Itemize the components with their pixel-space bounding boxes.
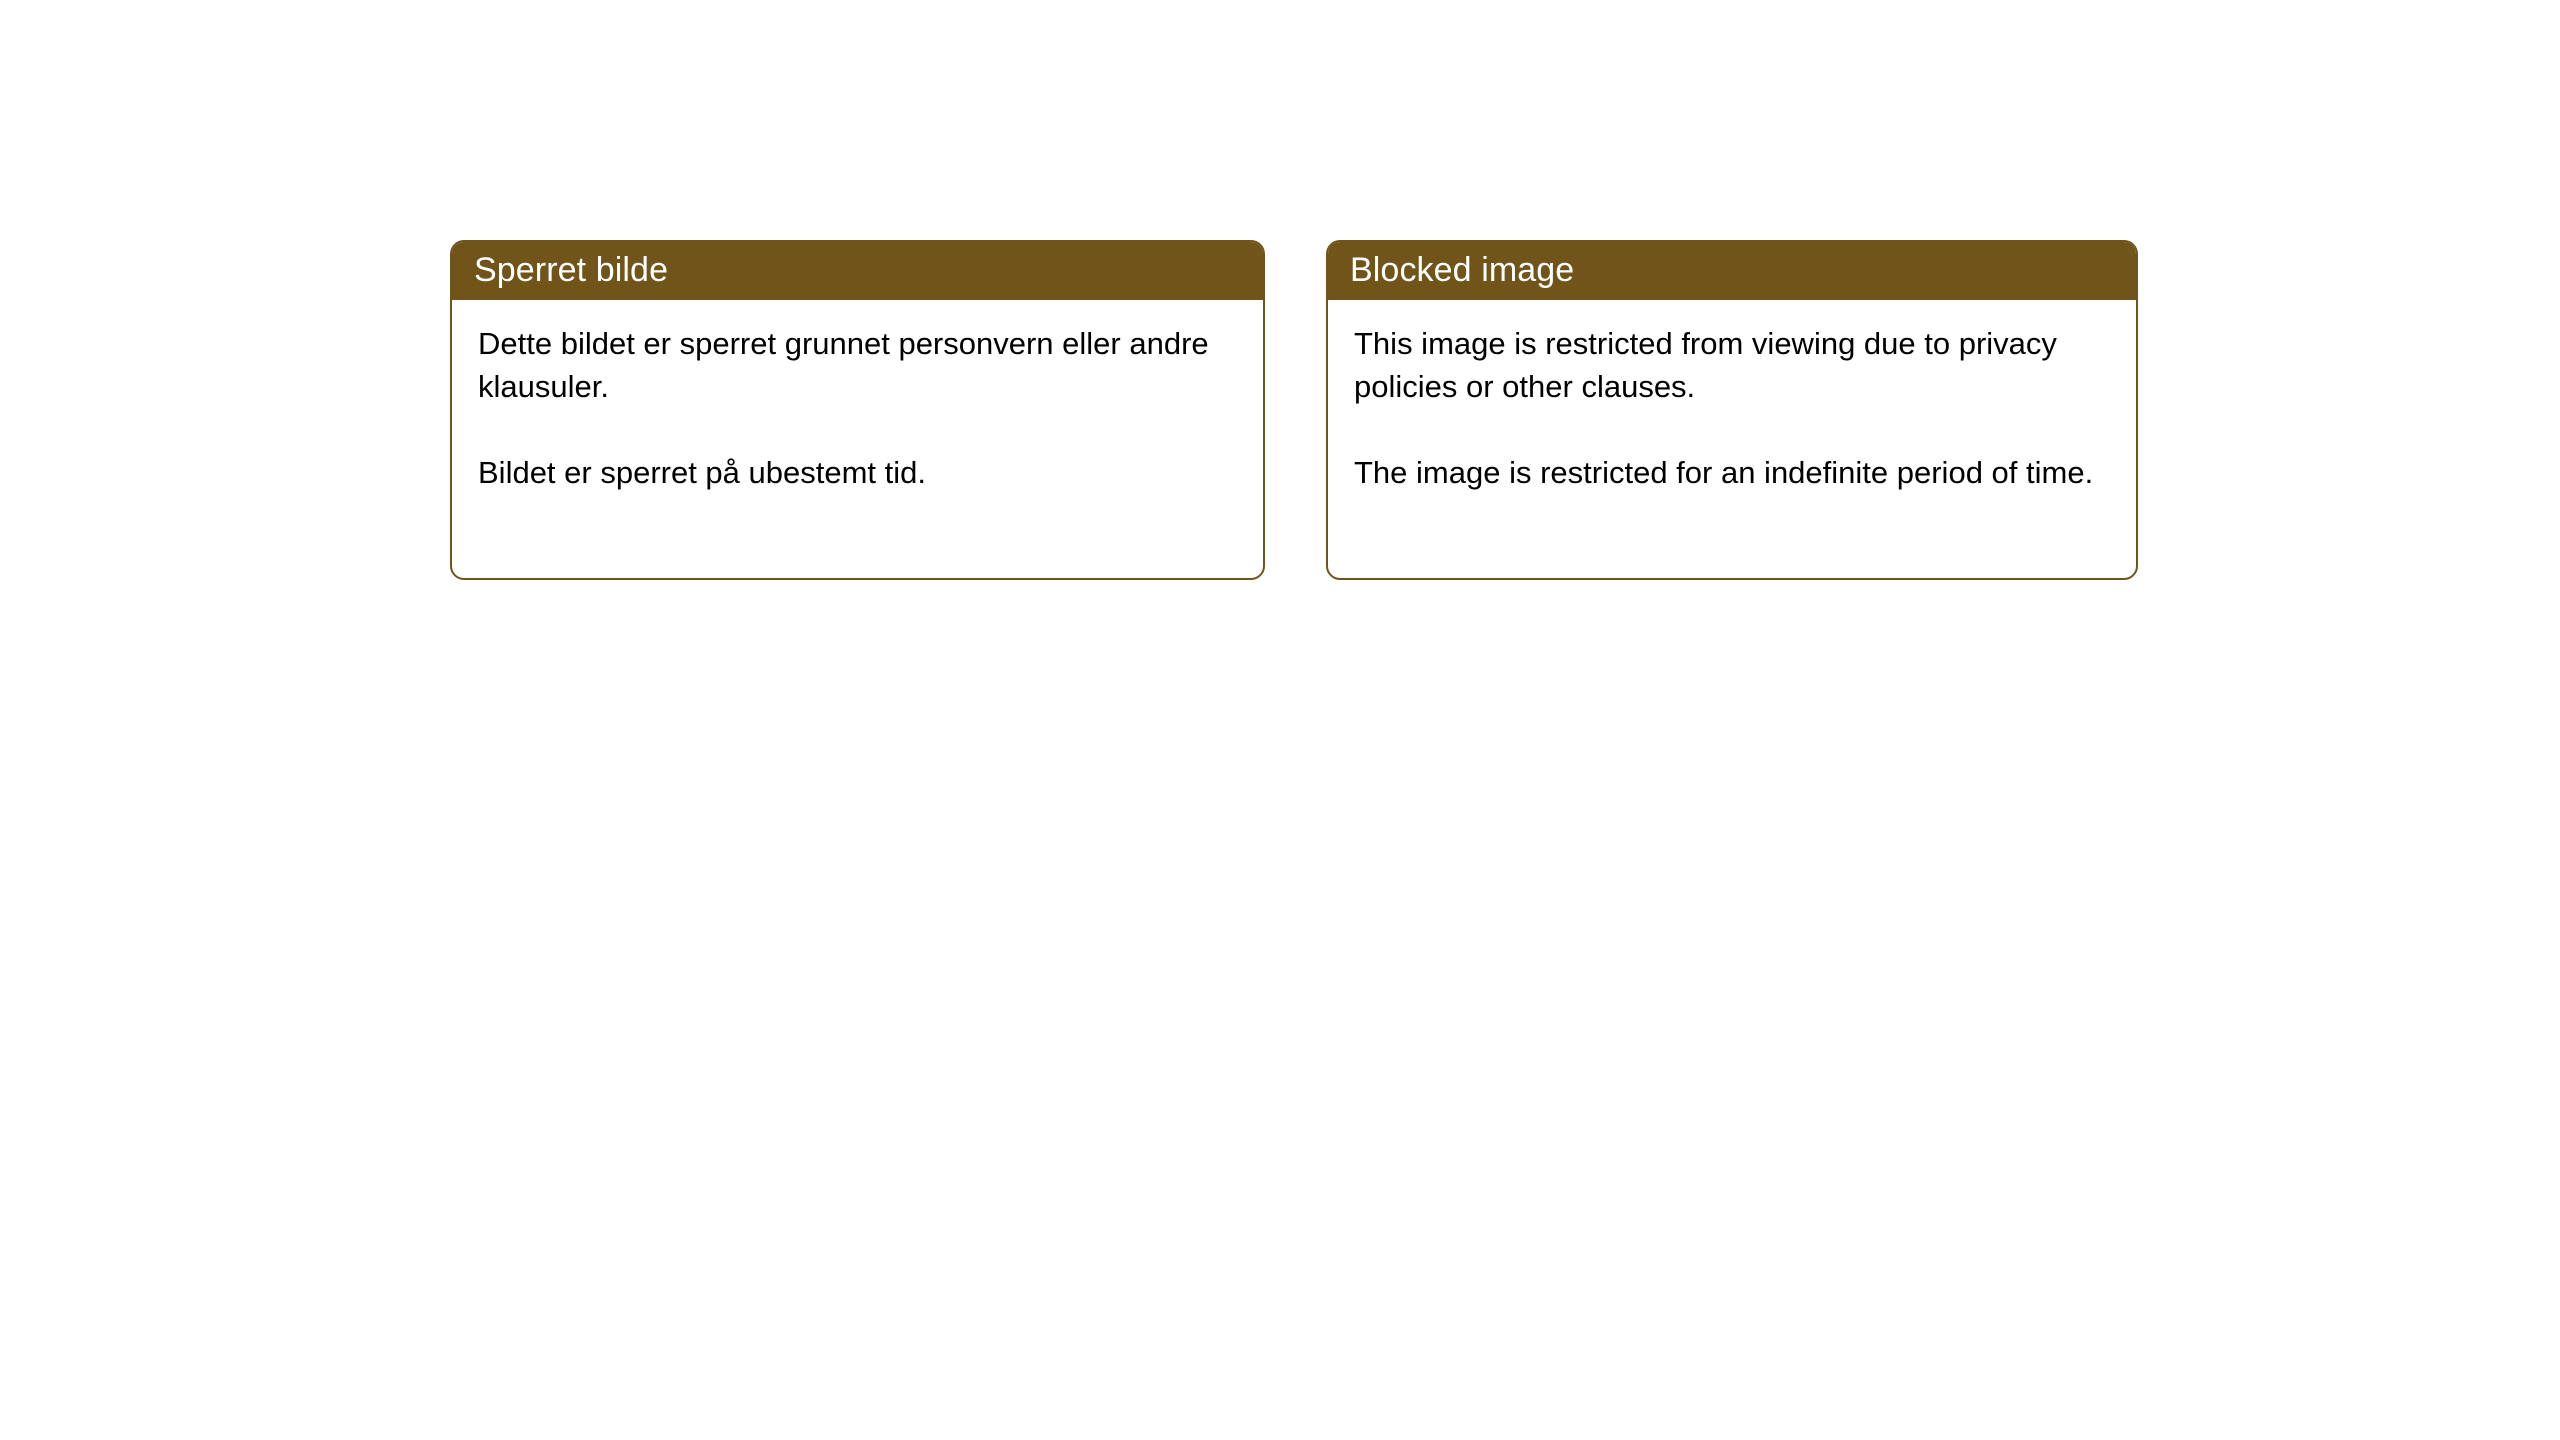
page-canvas: Sperret bilde Dette bildet er sperret gr… bbox=[0, 0, 2560, 1440]
blocked-image-notice-card-norwegian: Sperret bilde Dette bildet er sperret gr… bbox=[450, 240, 1265, 580]
card-body-norwegian: Dette bildet er sperret grunnet personve… bbox=[452, 300, 1263, 494]
blocked-image-notice-card-english: Blocked image This image is restricted f… bbox=[1326, 240, 2138, 580]
card-paragraph-duration-norwegian: Bildet er sperret på ubestemt tid. bbox=[478, 451, 1218, 494]
card-paragraph-duration-english: The image is restricted for an indefinit… bbox=[1354, 451, 2094, 494]
card-paragraph-reason-norwegian: Dette bildet er sperret grunnet personve… bbox=[478, 322, 1218, 408]
card-body-english: This image is restricted from viewing du… bbox=[1328, 300, 2136, 494]
card-title-english: Blocked image bbox=[1350, 250, 1574, 290]
card-paragraph-reason-english: This image is restricted from viewing du… bbox=[1354, 322, 2094, 408]
card-header-english: Blocked image bbox=[1326, 240, 2138, 300]
card-header-norwegian: Sperret bilde bbox=[450, 240, 1265, 300]
card-title-norwegian: Sperret bilde bbox=[474, 250, 668, 290]
